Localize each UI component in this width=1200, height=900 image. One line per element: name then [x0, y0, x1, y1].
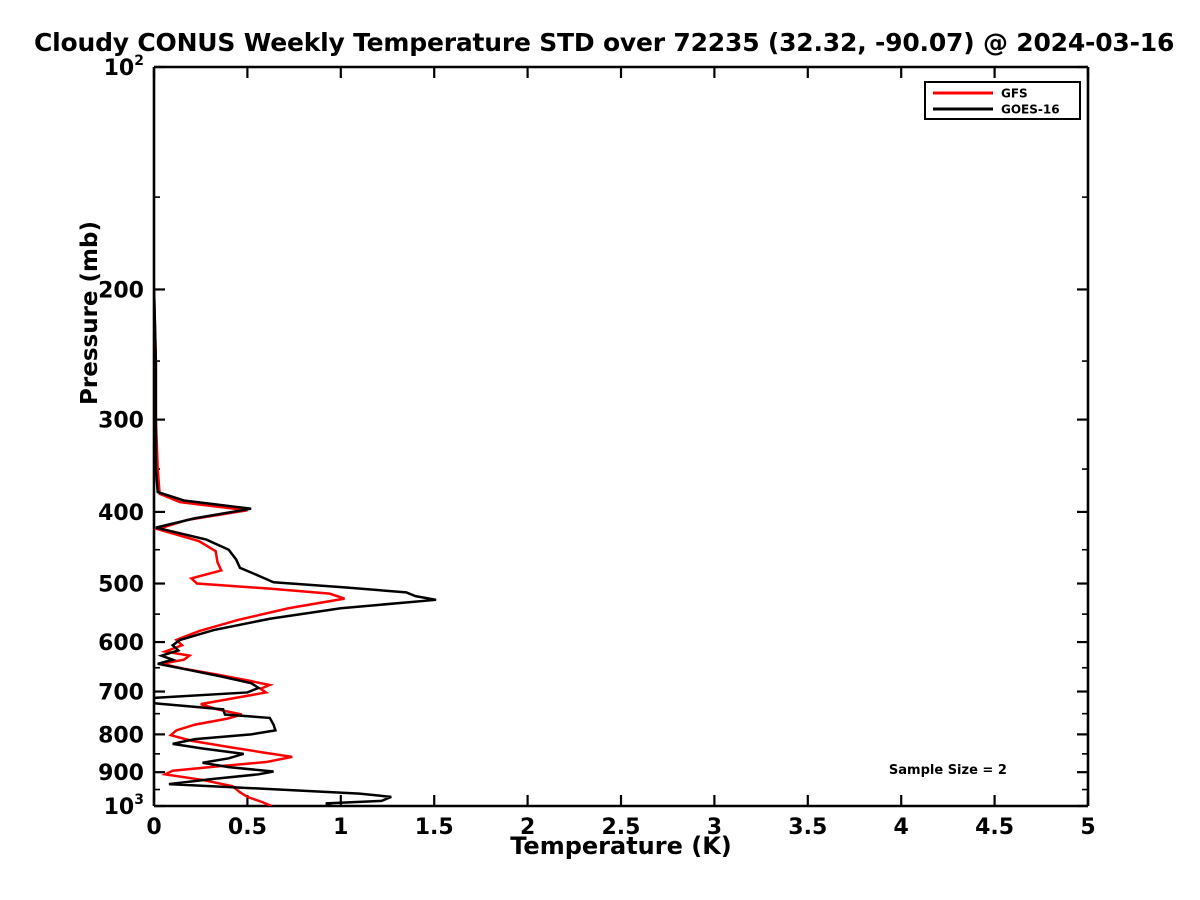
x-tick-label: 3 [707, 815, 722, 840]
legend-box: GFSGOES-16 [925, 82, 1080, 119]
x-tick-label: 0 [146, 815, 161, 840]
legend-label: GFS [1001, 87, 1028, 101]
y-tick-label: 102 [104, 53, 144, 81]
axes-group: 00.511.522.533.544.551022003004005006007… [98, 53, 1096, 840]
data-series-group [154, 288, 436, 806]
x-tick-label: 4.5 [975, 815, 1014, 840]
x-tick-label: 2 [520, 815, 535, 840]
x-tick-label: 1.5 [415, 815, 454, 840]
y-tick-label: 103 [104, 792, 144, 820]
y-tick-label: 200 [98, 278, 144, 303]
y-tick-label: 500 [98, 573, 144, 598]
x-tick-label: 0.5 [228, 815, 267, 840]
x-tick-label: 4 [894, 815, 909, 840]
x-tick-label: 3.5 [788, 815, 827, 840]
series-line-gfs [154, 288, 345, 806]
x-tick-label: 5 [1080, 815, 1095, 840]
legend-label: GOES-16 [1001, 103, 1060, 117]
x-tick-label: 1 [333, 815, 348, 840]
plot-area: 00.511.522.533.544.551022003004005006007… [0, 0, 1200, 900]
y-tick-label: 600 [98, 631, 144, 656]
y-tick-label: 900 [98, 761, 144, 786]
x-tick-label: 2.5 [602, 815, 641, 840]
y-tick-label: 700 [98, 681, 144, 706]
series-line-goes-16 [154, 288, 436, 806]
y-tick-label: 300 [98, 409, 144, 434]
y-tick-label: 400 [98, 501, 144, 526]
figure-canvas: Cloudy CONUS Weekly Temperature STD over… [0, 0, 1200, 900]
y-tick-label: 800 [98, 723, 144, 748]
annotation-text: Sample Size = 2 [889, 763, 1007, 778]
sample-size-annotation: Sample Size = 2 [889, 763, 1007, 778]
